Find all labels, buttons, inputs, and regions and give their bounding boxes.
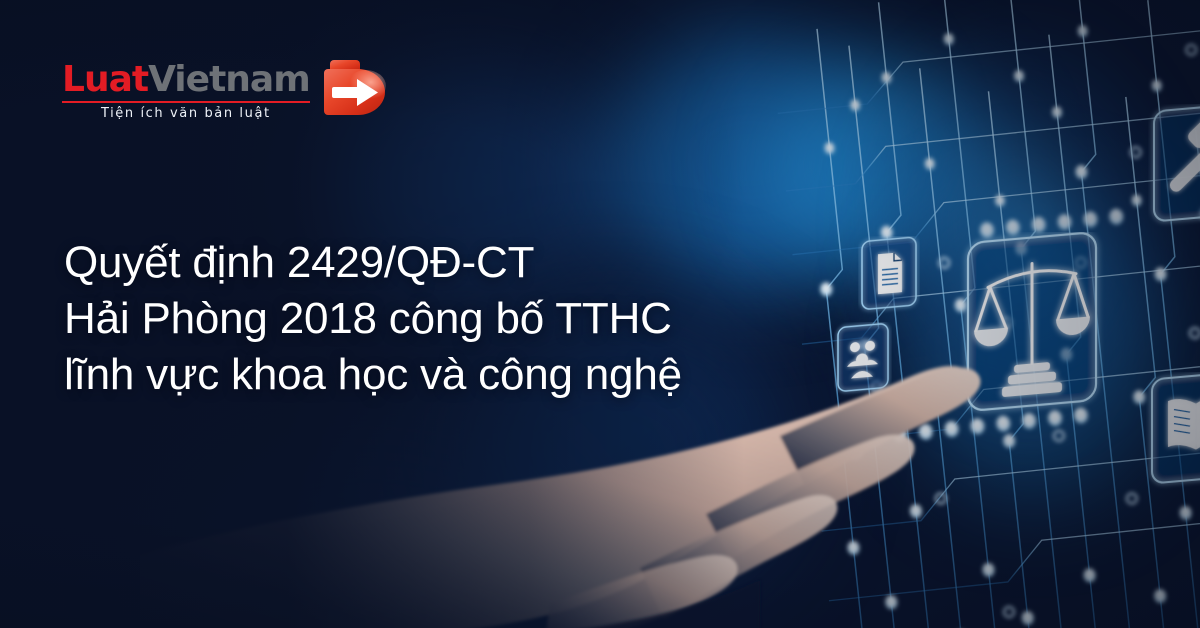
logo-wordmark: LuatVietnam Tiện ích văn bản luật [62, 56, 310, 121]
title-line-2: Hải Phòng 2018 công bố TTHC [64, 291, 784, 347]
page-title: Quyết định 2429/QĐ-CT Hải Phòng 2018 côn… [64, 235, 784, 403]
logo-underline [62, 101, 310, 103]
site-logo[interactable]: LuatVietnam Tiện ích văn bản luật [62, 56, 392, 121]
logo-word: LuatVietnam [62, 62, 310, 98]
title-line-3: lĩnh vực khoa học và công nghệ [64, 347, 784, 403]
folder-arrow-icon [322, 56, 392, 120]
title-line-1: Quyết định 2429/QĐ-CT [64, 235, 784, 291]
logo-word-secondary: Vietnam [148, 59, 310, 100]
share-card: LuatVietnam Tiện ích văn bản luật [0, 0, 1200, 628]
logo-tagline: Tiện ích văn bản luật [62, 106, 310, 121]
logo-word-primary: Luat [62, 59, 148, 100]
